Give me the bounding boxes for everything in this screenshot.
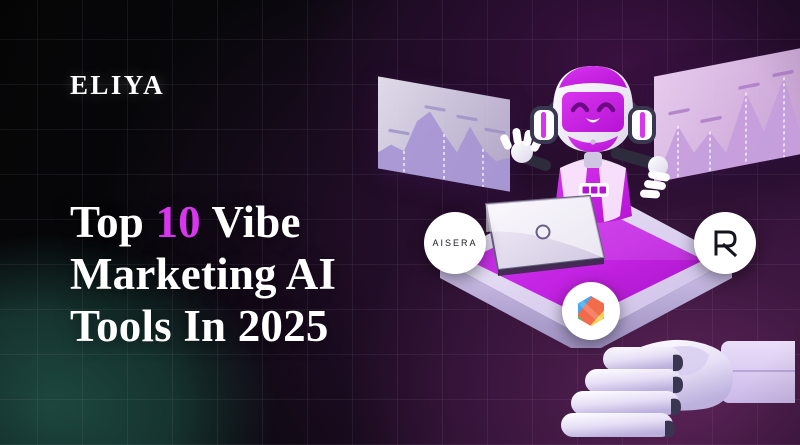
aisera-logo-label: AISERA <box>432 238 477 248</box>
hexagon-mark-icon <box>574 294 608 328</box>
robot-hand-icon <box>545 325 795 445</box>
robot-fingers-icon <box>561 347 681 437</box>
aisera-logo-badge[interactable]: AISERA <box>424 212 486 274</box>
poster-canvas: ELIYA Top 10 Vibe Marketing AI Tools In … <box>0 0 800 445</box>
title-line-2: Marketing AI <box>70 248 400 300</box>
laptop-device <box>480 192 610 282</box>
brand-logo: ELIYA <box>70 70 165 101</box>
robot-hand <box>545 325 795 445</box>
hexagon-logo-badge[interactable] <box>562 282 620 340</box>
title-line-1-post: Vibe <box>201 197 301 247</box>
illustration-stage: AISERA <box>370 0 800 445</box>
relevance-monogram-icon <box>710 228 740 258</box>
title-line-1-pre: Top <box>70 197 155 247</box>
page-title: Top 10 Vibe Marketing AI Tools In 2025 <box>70 196 400 353</box>
laptop-icon <box>480 192 610 282</box>
title-line-3: Tools In 2025 <box>70 300 400 352</box>
title-line-1: Top 10 Vibe <box>70 196 400 248</box>
title-accent-number: 10 <box>155 197 200 247</box>
relevance-ai-logo-badge[interactable] <box>694 212 756 274</box>
